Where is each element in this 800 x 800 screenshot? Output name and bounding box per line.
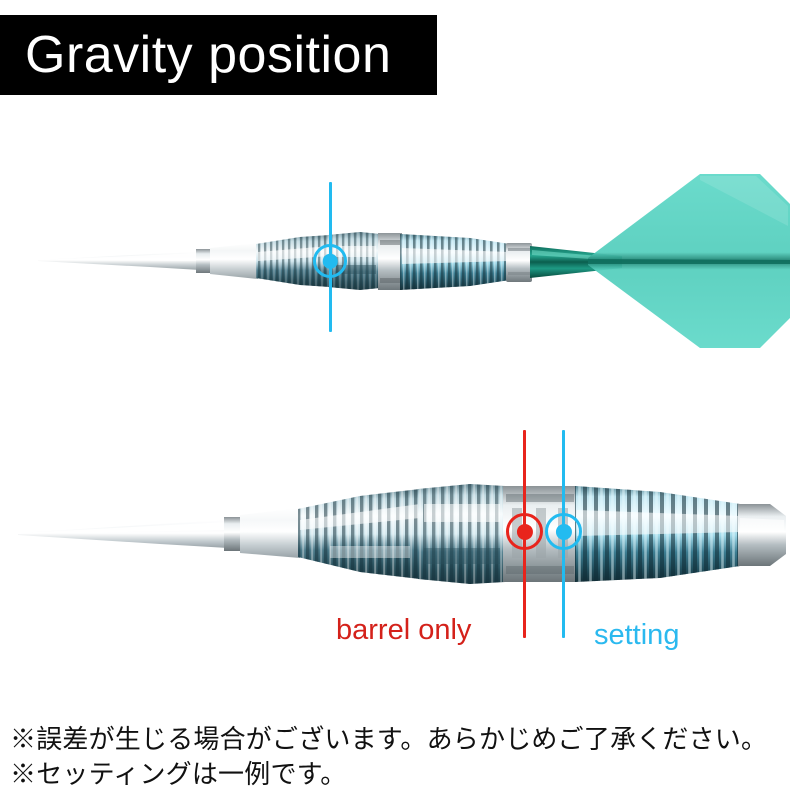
gravity-position-diagram: Gravity position: [0, 0, 800, 800]
dart-barrel-only: [0, 460, 800, 620]
dart-barrel-mid-large: [418, 484, 505, 584]
dart-flight: [588, 174, 790, 348]
page-title: Gravity position: [25, 29, 391, 81]
dart-butt-end: [738, 504, 786, 566]
dart-full-setting: [0, 160, 800, 360]
legend-setting: setting: [594, 620, 679, 650]
footnote-line-2: ※セッティングは一例です。: [10, 757, 790, 792]
dart-barrel-rear: [400, 234, 510, 290]
dart-point-large: [18, 508, 300, 558]
setting-marker-dot-top: [313, 244, 347, 278]
footnote-line-1: ※誤差が生じる場合がございます。あらかじめご了承ください。: [10, 722, 790, 757]
dart-collar: [506, 243, 532, 282]
title-banner: Gravity position: [0, 15, 437, 95]
setting-marker-dot-bottom: [545, 513, 582, 550]
dart-barrel-rear-large: [575, 486, 740, 582]
dart-barrel-front-large: [298, 489, 420, 579]
dart-grip-band: [378, 233, 402, 290]
barrel-only-marker-dot: [506, 513, 543, 550]
legend-barrel-only: barrel only: [336, 615, 471, 645]
dart-point: [38, 243, 258, 279]
footnotes: ※誤差が生じる場合がございます。あらかじめご了承ください。 ※セッティングは一例…: [10, 722, 790, 792]
